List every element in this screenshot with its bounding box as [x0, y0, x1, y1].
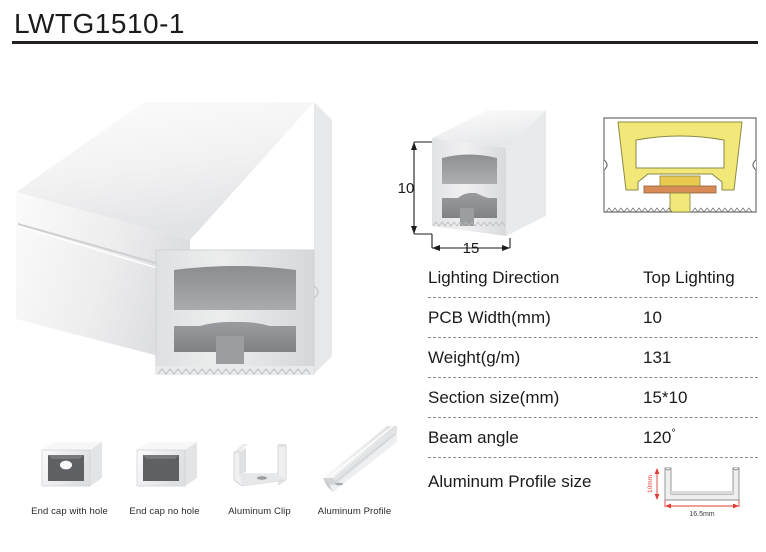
spec-label-pcb-width: PCB Width(mm)	[428, 308, 643, 328]
profile-width-label: 16.5mm	[689, 511, 714, 518]
spec-value-lighting-direction: Top Lighting	[643, 268, 735, 288]
spec-label-section-size: Section size(mm)	[428, 388, 643, 408]
table-row: PCB Width(mm) 10	[428, 298, 758, 338]
spec-value-pcb-width: 10	[643, 308, 662, 328]
aluminum-profile-size-diagram: 10mm 16.5mm	[643, 460, 755, 523]
title-divider	[12, 41, 758, 44]
profile-height-label: 10mm	[647, 475, 654, 493]
spec-label-aluminum-profile-size: Aluminum Profile size	[428, 458, 643, 492]
spec-label-lighting-direction: Lighting Direction	[428, 268, 643, 288]
table-row: Lighting Direction Top Lighting	[428, 258, 758, 298]
specification-table: Lighting Direction Top Lighting PCB Widt…	[428, 258, 758, 520]
table-row: Aluminum Profile size 10mm	[428, 458, 758, 520]
accessory-aluminum-profile: Aluminum Profile	[307, 418, 402, 517]
accessory-label: Aluminum Profile	[307, 506, 402, 517]
table-row: Weight(g/m) 131	[428, 338, 758, 378]
table-row: Beam angle 120°	[428, 418, 758, 458]
spec-value-beam-angle: 120°	[643, 428, 676, 448]
aluminum-profile-icon	[307, 418, 402, 496]
product-spec-sheet: LWTG1510-1	[0, 0, 766, 552]
accessory-label: Aluminum Clip	[212, 506, 307, 517]
spec-value-weight: 131	[643, 348, 671, 368]
end-cap-no-hole-icon	[117, 418, 212, 496]
dimension-width-label: 15	[463, 240, 480, 257]
degree-symbol: °	[671, 427, 675, 439]
neon-tube-cross-section-diagram	[596, 104, 764, 226]
table-row: Section size(mm) 15*10	[428, 378, 758, 418]
spec-label-beam-angle: Beam angle	[428, 428, 643, 448]
beam-angle-number: 120	[643, 428, 671, 447]
accessories-list: End cap with hole	[22, 418, 402, 517]
dimension-height-label: 10	[398, 180, 415, 197]
product-3d-render	[4, 74, 354, 394]
aluminum-clip-icon	[212, 418, 307, 496]
accessory-aluminum-clip: Aluminum Clip	[212, 418, 307, 517]
spec-label-weight: Weight(g/m)	[428, 348, 643, 368]
page-title: LWTG1510-1	[14, 8, 185, 40]
accessory-label: End cap no hole	[117, 506, 212, 517]
accessory-end-cap-no-hole: End cap no hole	[117, 418, 212, 517]
spec-value-section-size: 15*10	[643, 388, 687, 408]
end-cap-with-hole-icon	[22, 418, 117, 496]
accessory-end-cap-with-hole: End cap with hole	[22, 418, 117, 517]
accessory-label: End cap with hole	[22, 506, 117, 517]
cross-section-dimension-drawing: 10 15	[396, 96, 568, 260]
